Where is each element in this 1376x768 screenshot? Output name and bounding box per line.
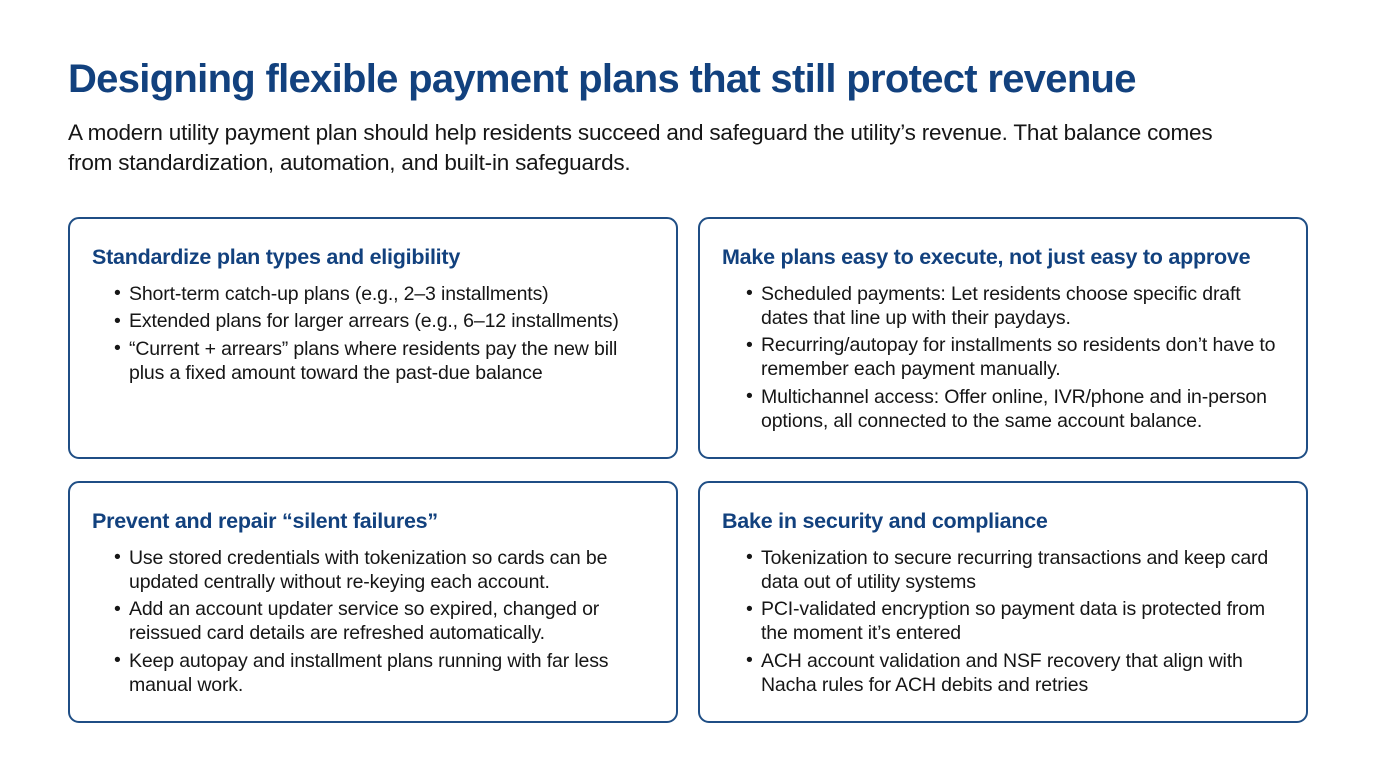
page-title: Designing flexible payment plans that st… bbox=[68, 58, 1308, 101]
list-item: Add an account updater service so expire… bbox=[114, 598, 656, 646]
card-title: Prevent and repair “silent failures” bbox=[92, 509, 656, 534]
card-bullet-list: Short-term catch-up plans (e.g., 2–3 ins… bbox=[92, 283, 656, 386]
list-item: Short-term catch-up plans (e.g., 2–3 ins… bbox=[114, 283, 656, 307]
card-standardize-plan-types: Standardize plan types and eligibility S… bbox=[68, 217, 678, 459]
card-bullet-list: Tokenization to secure recurring transac… bbox=[722, 547, 1286, 698]
card-prevent-and-repair-silent-failures: Prevent and repair “silent failures” Use… bbox=[68, 481, 678, 723]
slide-header: Designing flexible payment plans that st… bbox=[68, 58, 1308, 178]
card-title: Standardize plan types and eligibility bbox=[92, 245, 656, 270]
slide-canvas: Designing flexible payment plans that st… bbox=[0, 0, 1376, 768]
card-title: Bake in security and compliance bbox=[722, 509, 1286, 534]
list-item: Extended plans for larger arrears (e.g.,… bbox=[114, 310, 656, 334]
card-make-plans-easy-to-execute: Make plans easy to execute, not just eas… bbox=[698, 217, 1308, 459]
list-item: Scheduled payments: Let residents choose… bbox=[746, 283, 1286, 331]
card-bake-in-security-and-compliance: Bake in security and compliance Tokeniza… bbox=[698, 481, 1308, 723]
list-item: PCI-validated encryption so payment data… bbox=[746, 598, 1286, 646]
card-grid: Standardize plan types and eligibility S… bbox=[68, 217, 1308, 723]
list-item: Use stored credentials with tokenization… bbox=[114, 547, 656, 595]
list-item: Multichannel access: Offer online, IVR/p… bbox=[746, 386, 1286, 434]
list-item: Tokenization to secure recurring transac… bbox=[746, 547, 1286, 595]
list-item: Keep autopay and installment plans runni… bbox=[114, 650, 656, 698]
card-bullet-list: Use stored credentials with tokenization… bbox=[92, 547, 656, 698]
list-item: “Current + arrears” plans where resident… bbox=[114, 338, 656, 386]
card-title: Make plans easy to execute, not just eas… bbox=[722, 245, 1286, 270]
card-bullet-list: Scheduled payments: Let residents choose… bbox=[722, 283, 1286, 434]
page-subtitle: A modern utility payment plan should hel… bbox=[68, 118, 1258, 178]
list-item: Recurring/autopay for installments so re… bbox=[746, 334, 1286, 382]
list-item: ACH account validation and NSF recovery … bbox=[746, 650, 1286, 698]
